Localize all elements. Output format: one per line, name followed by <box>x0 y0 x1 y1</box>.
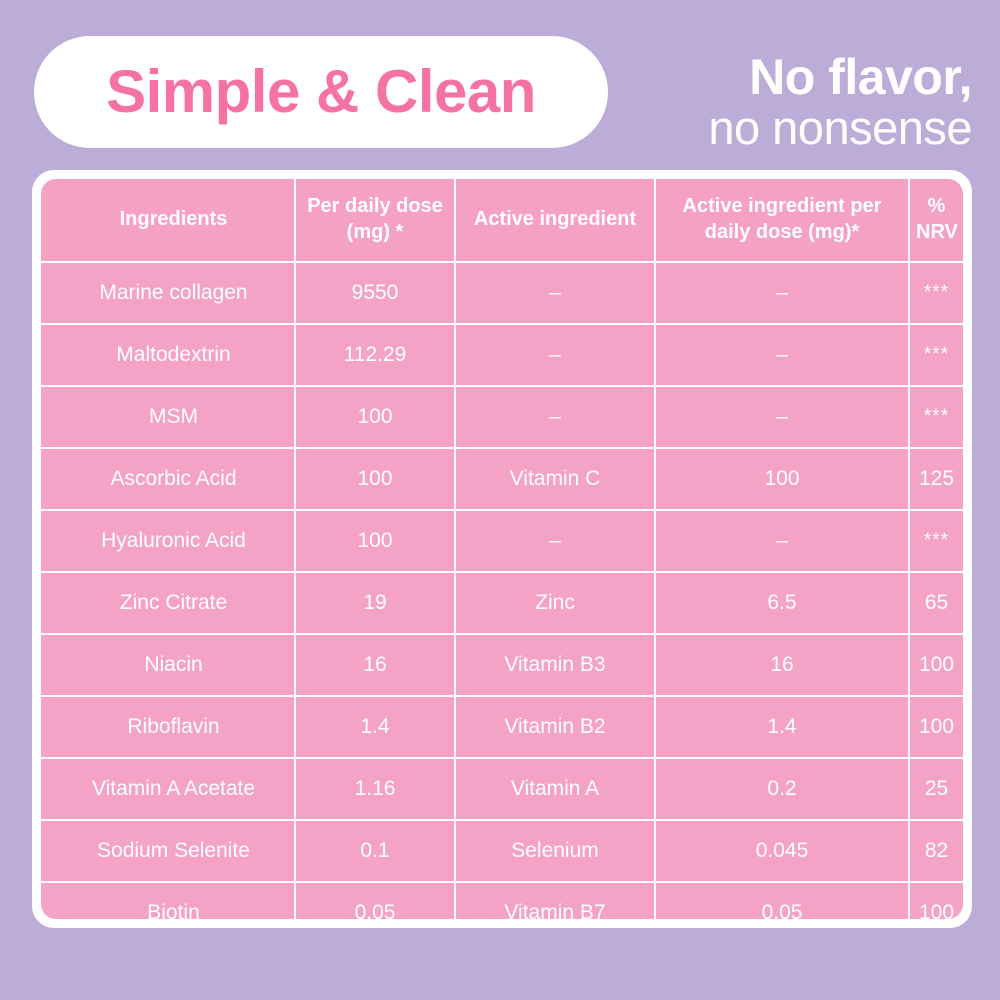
cell-ingredient: Riboflavin <box>41 696 295 758</box>
cell-ingredient: Ascorbic Acid <box>41 448 295 510</box>
cell-active-per-daily-dose: 0.2 <box>655 758 909 820</box>
cell-ingredient: Zinc Citrate <box>41 572 295 634</box>
cell-percent-nrv: 100 <box>909 696 963 758</box>
cell-percent-nrv: *** <box>909 324 963 386</box>
tagline-line-1: No flavor, <box>708 52 972 102</box>
cell-ingredient: Niacin <box>41 634 295 696</box>
cell-active-ingredient: Vitamin C <box>455 448 655 510</box>
cell-active-ingredient: Vitamin B3 <box>455 634 655 696</box>
cell-percent-nrv: *** <box>909 262 963 324</box>
cell-ingredient: Sodium Selenite <box>41 820 295 882</box>
cell-active-per-daily-dose: – <box>655 510 909 572</box>
page-title: Simple & Clean <box>106 62 536 122</box>
tagline-line-2: no nonsense <box>708 104 972 151</box>
table-body: Marine collagen9550––***Maltodextrin112.… <box>41 262 963 919</box>
ingredients-table: Ingredients Per daily dose (mg) * Active… <box>41 179 963 919</box>
tagline: No flavor, no nonsense <box>708 52 972 151</box>
column-header-percent-nrv: % NRV <box>909 179 963 262</box>
cell-percent-nrv: 100 <box>909 882 963 919</box>
title-pill: Simple & Clean <box>34 36 608 148</box>
cell-active-ingredient: – <box>455 510 655 572</box>
cell-active-per-daily-dose: – <box>655 324 909 386</box>
cell-percent-nrv: 125 <box>909 448 963 510</box>
cell-per-daily-dose: 16 <box>295 634 455 696</box>
table-row: Zinc Citrate19Zinc6.565 <box>41 572 963 634</box>
column-header-active-per-daily-dose: Active ingredient per daily dose (mg)* <box>655 179 909 262</box>
cell-percent-nrv: 25 <box>909 758 963 820</box>
table-row: Niacin16Vitamin B316100 <box>41 634 963 696</box>
cell-active-per-daily-dose: 100 <box>655 448 909 510</box>
cell-ingredient: Vitamin A Acetate <box>41 758 295 820</box>
table-row: Marine collagen9550––*** <box>41 262 963 324</box>
cell-per-daily-dose: 112.29 <box>295 324 455 386</box>
cell-per-daily-dose: 9550 <box>295 262 455 324</box>
table-row: Biotin0.05Vitamin B70.05100 <box>41 882 963 919</box>
cell-per-daily-dose: 0.1 <box>295 820 455 882</box>
cell-percent-nrv: 82 <box>909 820 963 882</box>
column-header-ingredients: Ingredients <box>41 179 295 262</box>
cell-ingredient: Marine collagen <box>41 262 295 324</box>
cell-active-per-daily-dose: 1.4 <box>655 696 909 758</box>
cell-active-ingredient: Vitamin A <box>455 758 655 820</box>
cell-per-daily-dose: 19 <box>295 572 455 634</box>
ingredients-table-card: Ingredients Per daily dose (mg) * Active… <box>32 170 972 928</box>
table-row: Riboflavin1.4Vitamin B21.4100 <box>41 696 963 758</box>
cell-active-per-daily-dose: – <box>655 386 909 448</box>
table-row: Vitamin A Acetate1.16Vitamin A0.225 <box>41 758 963 820</box>
cell-active-per-daily-dose: 16 <box>655 634 909 696</box>
table-header-row: Ingredients Per daily dose (mg) * Active… <box>41 179 963 262</box>
column-header-per-daily-dose: Per daily dose (mg) * <box>295 179 455 262</box>
cell-percent-nrv: 65 <box>909 572 963 634</box>
cell-active-ingredient: Vitamin B2 <box>455 696 655 758</box>
table-row: Maltodextrin112.29––*** <box>41 324 963 386</box>
cell-active-ingredient: Zinc <box>455 572 655 634</box>
table-row: MSM100––*** <box>41 386 963 448</box>
header-band: Simple & Clean No flavor, no nonsense <box>0 0 1000 168</box>
cell-ingredient: Biotin <box>41 882 295 919</box>
cell-active-per-daily-dose: 0.05 <box>655 882 909 919</box>
cell-ingredient: Maltodextrin <box>41 324 295 386</box>
cell-active-ingredient: Selenium <box>455 820 655 882</box>
table-row: Hyaluronic Acid100––*** <box>41 510 963 572</box>
cell-active-ingredient: Vitamin B7 <box>455 882 655 919</box>
cell-active-ingredient: – <box>455 386 655 448</box>
cell-active-per-daily-dose: 0.045 <box>655 820 909 882</box>
column-header-active-ingredient: Active ingredient <box>455 179 655 262</box>
cell-percent-nrv: *** <box>909 510 963 572</box>
cell-percent-nrv: *** <box>909 386 963 448</box>
cell-per-daily-dose: 1.16 <box>295 758 455 820</box>
cell-ingredient: MSM <box>41 386 295 448</box>
cell-active-ingredient: – <box>455 324 655 386</box>
table-row: Sodium Selenite0.1Selenium0.04582 <box>41 820 963 882</box>
cell-per-daily-dose: 100 <box>295 386 455 448</box>
cell-active-per-daily-dose: – <box>655 262 909 324</box>
cell-active-ingredient: – <box>455 262 655 324</box>
cell-per-daily-dose: 1.4 <box>295 696 455 758</box>
table-clip: Ingredients Per daily dose (mg) * Active… <box>41 179 963 919</box>
cell-percent-nrv: 100 <box>909 634 963 696</box>
cell-per-daily-dose: 0.05 <box>295 882 455 919</box>
table-head: Ingredients Per daily dose (mg) * Active… <box>41 179 963 262</box>
cell-per-daily-dose: 100 <box>295 510 455 572</box>
cell-ingredient: Hyaluronic Acid <box>41 510 295 572</box>
table-row: Ascorbic Acid100Vitamin C100125 <box>41 448 963 510</box>
cell-per-daily-dose: 100 <box>295 448 455 510</box>
cell-active-per-daily-dose: 6.5 <box>655 572 909 634</box>
